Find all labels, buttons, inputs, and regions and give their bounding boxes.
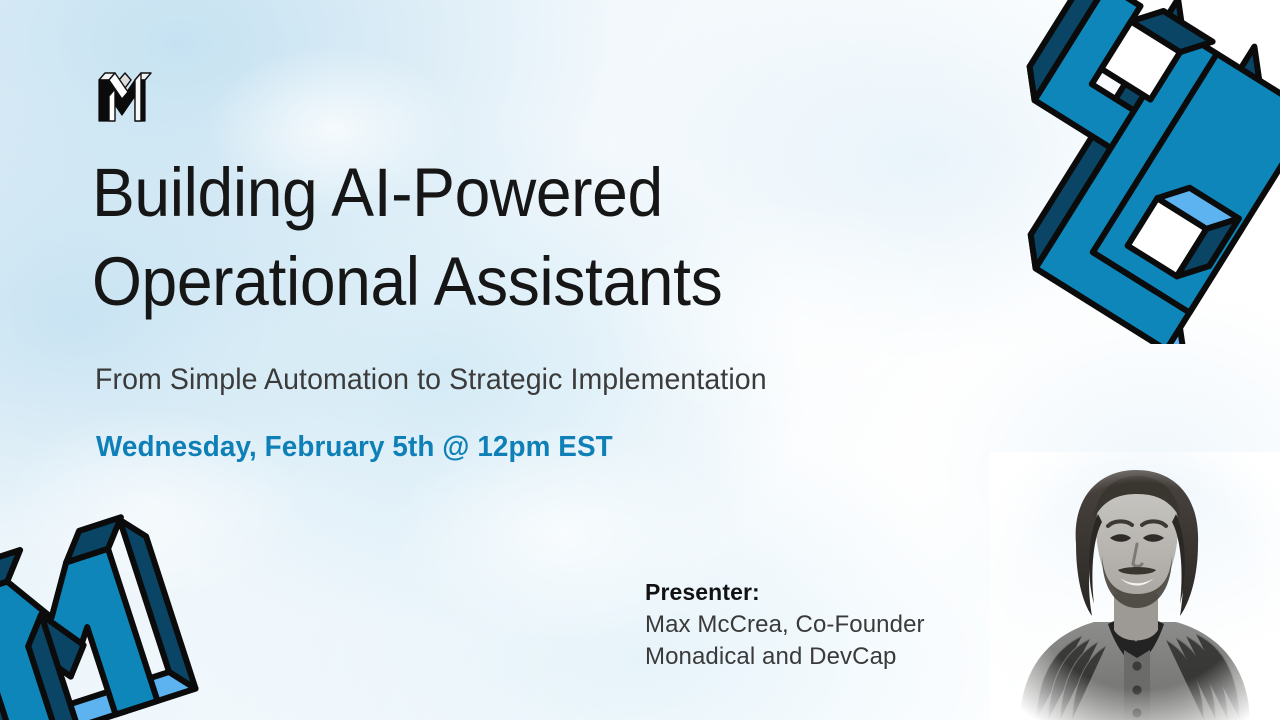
page-title: Building AI-Powered Operational Assistan… bbox=[92, 148, 855, 326]
presenter-label: Presenter: bbox=[645, 576, 985, 609]
m-logo-3d-icon-bottom-left bbox=[0, 482, 222, 720]
page-subtitle: From Simple Automation to Strategic Impl… bbox=[95, 363, 767, 397]
presenter-name-role: Max McCrea, Co-Founder bbox=[645, 609, 985, 642]
event-date-time: Wednesday, February 5th @ 12pm EST bbox=[96, 431, 613, 464]
presenter-headshot bbox=[990, 452, 1280, 720]
m-logo-3d-icon-top-right bbox=[946, 0, 1280, 344]
presenter-block: Presenter: Max McCrea, Co-Founder Monadi… bbox=[645, 576, 985, 674]
monadical-m-logo-icon bbox=[95, 68, 155, 126]
webinar-title-slide: Building AI-Powered Operational Assistan… bbox=[0, 0, 1280, 720]
presenter-companies: Monadical and DevCap bbox=[645, 641, 985, 674]
